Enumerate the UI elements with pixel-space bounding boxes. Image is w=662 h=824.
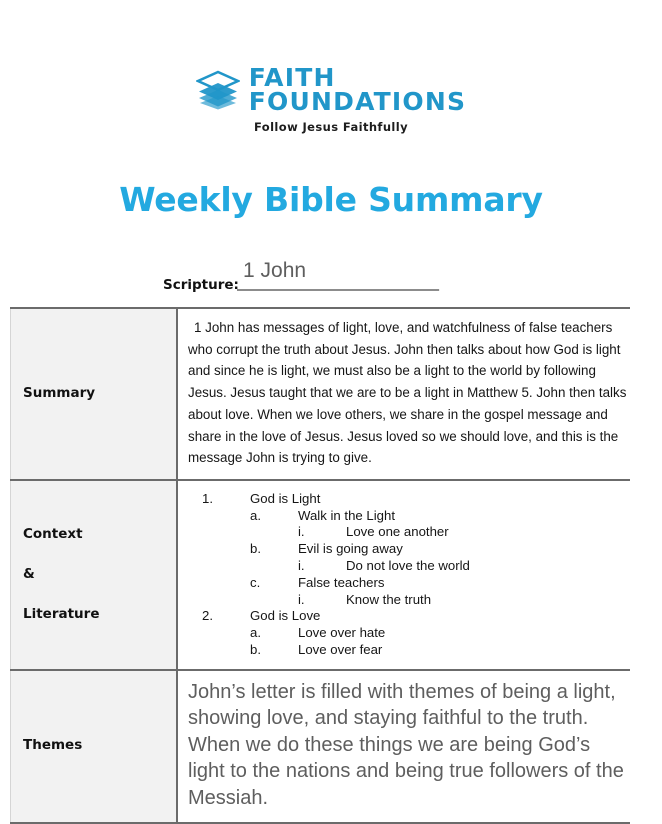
- outline-marker: 1.: [202, 491, 250, 508]
- outline-text: Do not love the world: [346, 558, 470, 575]
- table-row-context: Context & Literature 1.God is Lighta.Wal…: [11, 480, 631, 670]
- outline-text: Love one another: [346, 524, 449, 541]
- outline-text: Love over fear: [298, 642, 382, 659]
- outline-marker: 2.: [202, 608, 250, 625]
- outline-item: b.Love over fear: [188, 642, 628, 659]
- context-outline: 1.God is Lighta.Walk in the Lighti.Love …: [188, 489, 628, 659]
- row-label-context: Context & Literature: [11, 480, 178, 670]
- brand-tagline: Follow Jesus Faithfully: [254, 120, 408, 134]
- outline-marker: i.: [298, 558, 346, 575]
- themes-paragraph: John’s letter is filled with themes of b…: [188, 679, 628, 812]
- outline-text: Evil is going away: [298, 541, 403, 558]
- outline-item: 1.God is Light: [188, 491, 628, 508]
- row-label-context-line-2: &: [23, 555, 176, 595]
- outline-text: Know the truth: [346, 592, 431, 609]
- outline-marker: i.: [298, 592, 346, 609]
- row-label-context-line-1: Context: [23, 515, 176, 555]
- row-label-context-line-3: Literature: [23, 595, 176, 635]
- table-row-summary: Summary 1 John has messages of light, lo…: [11, 308, 631, 480]
- outline-item: a.Love over hate: [188, 625, 628, 642]
- outline-item: 2.God is Love: [188, 608, 628, 625]
- summary-table: Summary 1 John has messages of light, lo…: [10, 307, 630, 824]
- logo-wordmark: FAITH FOUNDATIONS: [249, 66, 466, 114]
- outline-item: a.Walk in the Light: [188, 508, 628, 525]
- logo-lockup: FAITH FOUNDATIONS: [196, 66, 466, 114]
- logo-word-foundations: FOUNDATIONS: [249, 90, 466, 114]
- outline-item: c.False teachers: [188, 575, 628, 592]
- page-title: Weekly Bible Summary: [0, 180, 662, 219]
- outline-marker: a.: [250, 508, 298, 525]
- outline-text: God is Light: [250, 491, 320, 508]
- outline-item: i.Know the truth: [188, 592, 628, 609]
- outline-item: i.Love one another: [188, 524, 628, 541]
- row-label-summary: Summary: [11, 308, 178, 480]
- row-content-summary[interactable]: 1 John has messages of light, love, and …: [177, 308, 630, 480]
- outline-marker: a.: [250, 625, 298, 642]
- scripture-value[interactable]: 1 John: [243, 259, 306, 283]
- table-row-themes: Themes John’s letter is filled with them…: [11, 670, 631, 823]
- outline-text: Love over hate: [298, 625, 385, 642]
- row-label-themes: Themes: [11, 670, 178, 823]
- stacked-layers-icon: [196, 70, 240, 110]
- summary-paragraph: 1 John has messages of light, love, and …: [188, 317, 628, 469]
- outline-text: God is Love: [250, 608, 320, 625]
- outline-item: i.Do not love the world: [188, 558, 628, 575]
- outline-text: Walk in the Light: [298, 508, 395, 525]
- scripture-label: Scripture:: [163, 277, 239, 293]
- row-content-context[interactable]: 1.God is Lighta.Walk in the Lighti.Love …: [177, 480, 630, 670]
- outline-marker: b.: [250, 541, 298, 558]
- outline-marker: i.: [298, 524, 346, 541]
- outline-text: False teachers: [298, 575, 385, 592]
- brand-header: FAITH FOUNDATIONS Follow Jesus Faithfull…: [0, 0, 662, 134]
- outline-item: b.Evil is going away: [188, 541, 628, 558]
- scripture-field: Scripture: _____________________________…: [0, 259, 662, 299]
- outline-marker: c.: [250, 575, 298, 592]
- outline-marker: b.: [250, 642, 298, 659]
- row-content-themes[interactable]: John’s letter is filled with themes of b…: [177, 670, 630, 823]
